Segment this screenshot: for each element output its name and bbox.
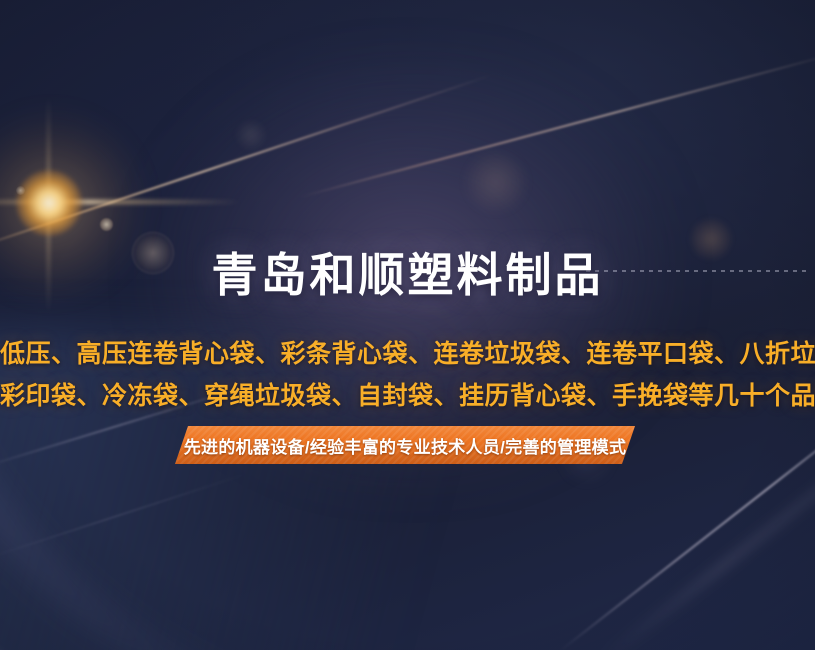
promo-banner: 青岛和顺塑料制品 低压、高压连卷背心袋、彩条背心袋、连卷垃圾袋、连卷平口袋、八折… [0,0,815,650]
vignette-overlay [0,0,815,650]
tagline-text: 先进的机器设备/经验丰富的专业技术人员/完善的管理模式 [175,426,635,464]
product-list-line-2: 彩印袋、冷冻袋、穿绳垃圾袋、自封袋、挂历背心袋、手挽袋等几十个品种 [0,379,815,413]
tagline-ribbon: 先进的机器设备/经验丰富的专业技术人员/完善的管理模式 [175,426,635,464]
product-list-line-1: 低压、高压连卷背心袋、彩条背心袋、连卷垃圾袋、连卷平口袋、八折垃圾袋、 [0,337,815,371]
company-title: 青岛和顺塑料制品 [0,247,815,303]
